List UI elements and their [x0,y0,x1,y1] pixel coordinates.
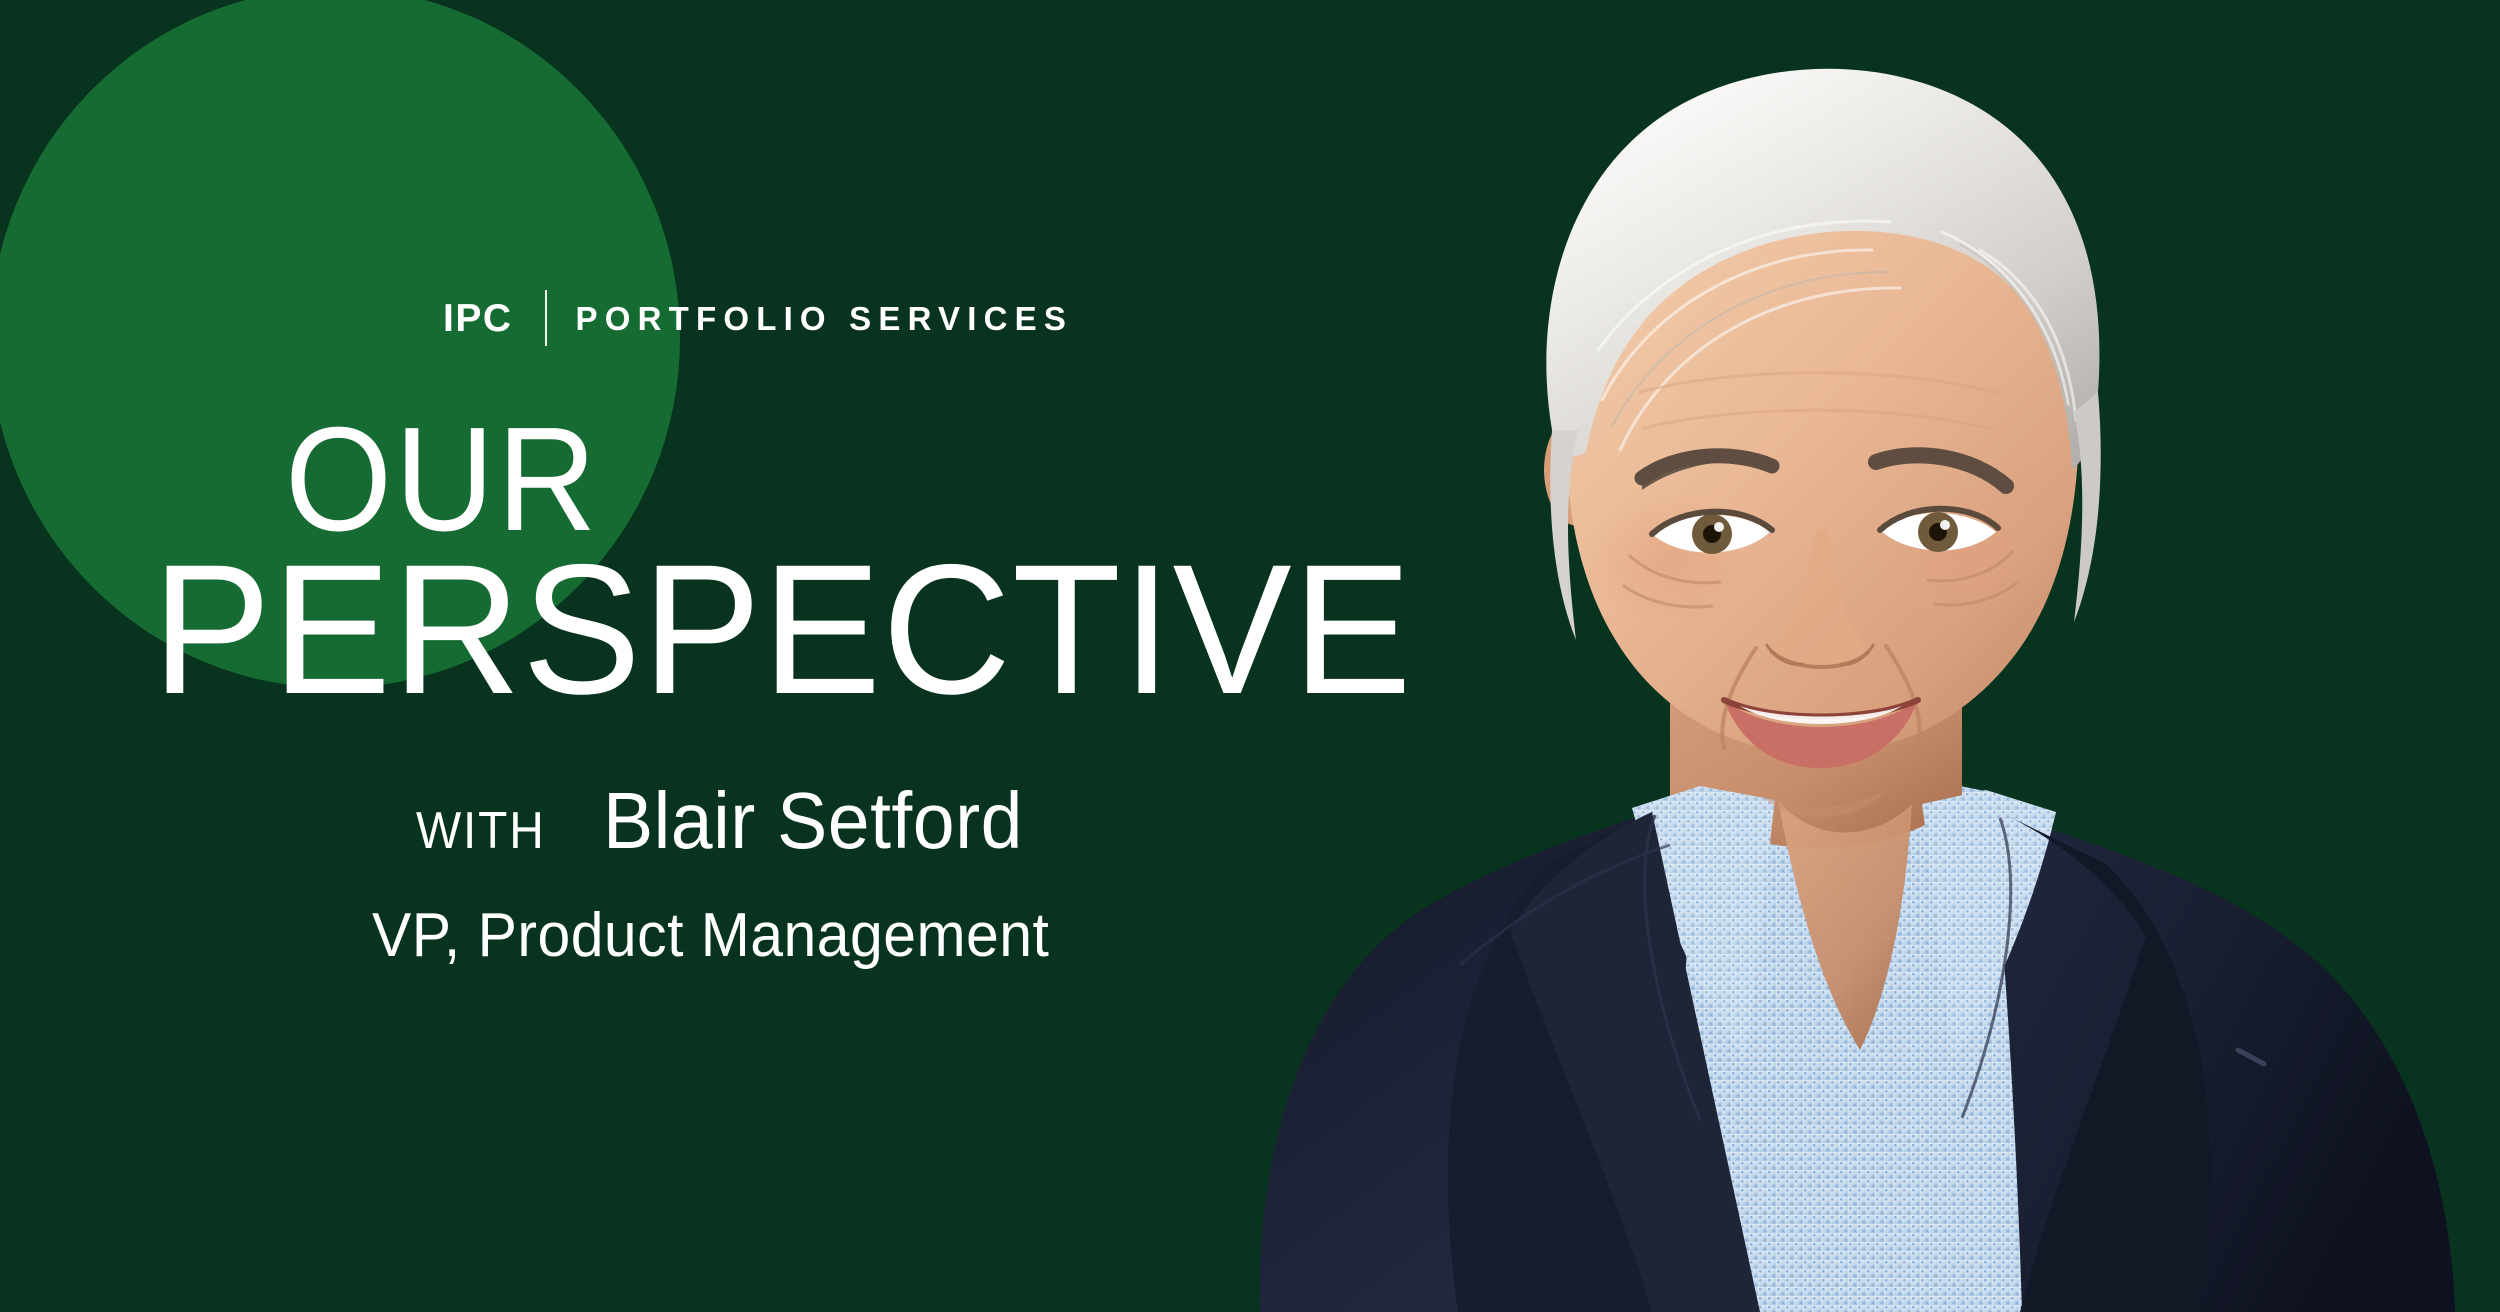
byline-prefix-with: WITH [416,801,546,861]
headline-line-perspective: PERSPECTIVE [152,538,1413,723]
byline-job-title: VP, Product Management [372,900,1049,971]
brand-divider-line [545,290,547,346]
brand-name-portfolio-services: PORTFOLIO SERVICES [576,302,1074,335]
brand-mark-ipc: IPC [443,299,513,338]
byline-row: WITH Blair Setford [416,775,1050,867]
byline-speaker-name: Blair Setford [603,775,1023,867]
brand-lockup: IPC PORTFOLIO SERVICES [443,295,1073,341]
banner-canvas: IPC PORTFOLIO SERVICES OUR PERSPECTIVE W… [0,0,2500,1312]
text-content: IPC PORTFOLIO SERVICES OUR PERSPECTIVE W… [0,0,1350,1312]
